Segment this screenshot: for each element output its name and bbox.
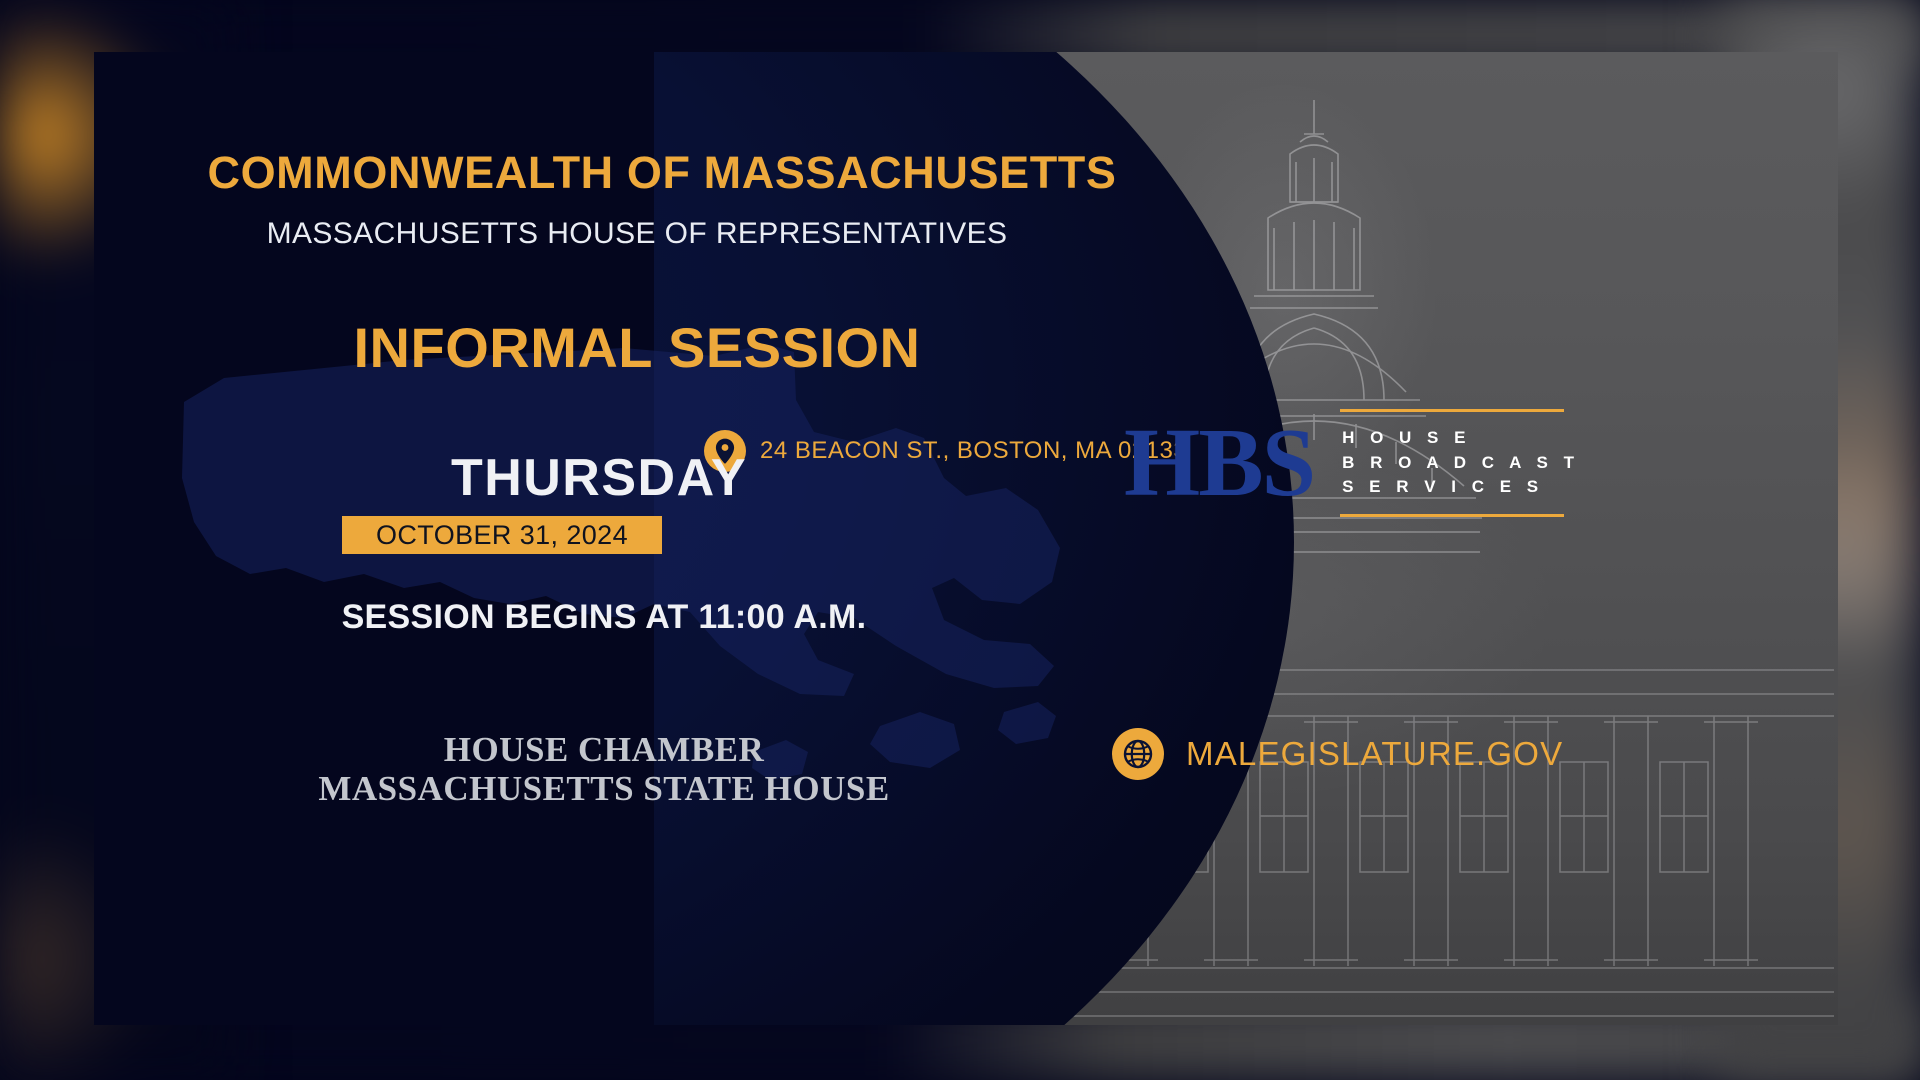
globe-icon <box>1112 728 1164 780</box>
hbs-name-line-2: B R O A D C A S T <box>1342 451 1579 476</box>
hbs-name-lines: H O U S E B R O A D C A S T S E R V I C … <box>1340 417 1581 509</box>
broadcast-slate-screen: COMMONWEALTH OF MASSACHUSETTS MASSACHUSE… <box>0 0 1920 1080</box>
start-time-text: SESSION BEGINS AT 11:00 A.M. <box>214 598 994 637</box>
hbs-name-line-3: S E R V I C E S <box>1342 475 1579 500</box>
session-type-heading: INFORMAL SESSION <box>112 315 1162 380</box>
slate-card: COMMONWEALTH OF MASSACHUSETTS MASSACHUSE… <box>94 52 1838 1025</box>
hbs-monogram: HBS <box>1124 418 1314 508</box>
date-badge: OCTOBER 31, 2024 <box>342 516 662 554</box>
chamber-subtitle: MASSACHUSETTS HOUSE OF REPRESENTATIVES <box>112 217 1162 251</box>
venue-line-1: HOUSE CHAMBER <box>214 730 994 769</box>
website-text: MALEGISLATURE.GOV <box>1186 735 1563 773</box>
hbs-wordmark: H O U S E B R O A D C A S T S E R V I C … <box>1340 400 1581 526</box>
jurisdiction-title: COMMONWEALTH OF MASSACHUSETTS <box>112 150 1212 195</box>
slate-content: COMMONWEALTH OF MASSACHUSETTS MASSACHUSE… <box>94 52 1838 1025</box>
weekday-text: THURSDAY <box>244 448 954 508</box>
hbs-logo: HBS H O U S E B R O A D C A S T S E R V … <box>1124 400 1581 526</box>
venue-block: HOUSE CHAMBER MASSACHUSETTS STATE HOUSE <box>214 730 994 808</box>
venue-line-2: MASSACHUSETTS STATE HOUSE <box>214 769 994 808</box>
website-row: MALEGISLATURE.GOV <box>1112 728 1563 780</box>
hbs-top-rule <box>1340 409 1564 412</box>
date-text: OCTOBER 31, 2024 <box>376 520 628 551</box>
hbs-bottom-rule <box>1340 514 1564 517</box>
hbs-name-line-1: H O U S E <box>1342 426 1579 451</box>
